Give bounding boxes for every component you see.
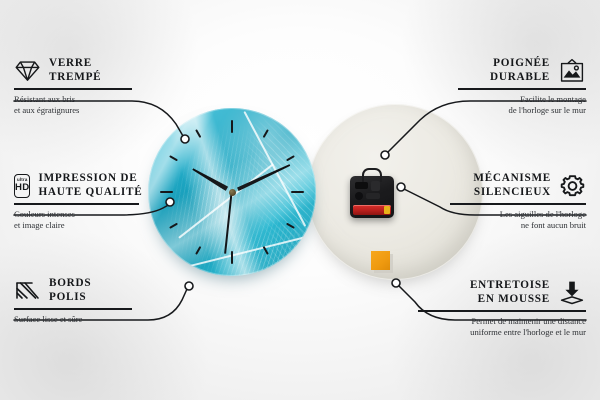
feature-title: BORDSPOLIS [49, 277, 91, 304]
feature-description: Facilite le montage de l'horloge sur le … [458, 94, 586, 116]
battery [353, 205, 391, 215]
ultra-hd-icon: ultra HD [14, 174, 30, 198]
gear-icon [559, 173, 586, 199]
feature-header: VERRETREMPÉ [14, 57, 132, 84]
polished-edges-icon [14, 279, 41, 303]
feature-description: Résistant aux bris et aux égratignures [14, 94, 132, 116]
feature-header: ENTRETOISEEN MOUSSE [418, 279, 586, 306]
feature-verre-trempe: VERRETREMPÉ Résistant aux bris et aux ég… [14, 57, 132, 116]
mechanism-detail [355, 192, 363, 200]
diamond-icon [14, 60, 41, 82]
feature-title: VERRETREMPÉ [49, 57, 101, 84]
feature-impression-haute-qualite: ultra HD IMPRESSION DEHAUTE QUALITÉ Coul… [14, 172, 139, 231]
mechanism-detail [355, 182, 368, 189]
feature-header: ultra HD IMPRESSION DEHAUTE QUALITÉ [14, 172, 139, 199]
feature-entretoise-en-mousse: ENTRETOISEEN MOUSSE Permet de maintenir … [418, 279, 586, 338]
picture-hanger-icon [558, 58, 586, 83]
feature-divider [418, 310, 586, 311]
foam-spacer [371, 251, 390, 270]
feature-divider [450, 203, 586, 204]
feature-divider [458, 88, 586, 89]
hanger-loop [362, 168, 382, 182]
feature-bords-polis: BORDSPOLIS Surface lisse et sûre [14, 277, 132, 325]
clock-face-rim [148, 108, 316, 276]
clock-mechanism [350, 176, 394, 218]
foam-spacer-icon [558, 280, 586, 306]
feature-title: ENTRETOISEEN MOUSSE [470, 279, 550, 306]
feature-divider [14, 308, 132, 309]
mechanism-detail [366, 193, 380, 199]
feature-description: Les aiguilles de l'horloge ne font aucun… [450, 209, 586, 231]
feature-header: MÉCANISMESILENCIEUX [450, 172, 586, 199]
feature-header: BORDSPOLIS [14, 277, 132, 304]
feature-description: Surface lisse et sûre [14, 314, 132, 325]
feature-title: POIGNÉEDURABLE [490, 57, 550, 84]
feature-title: IMPRESSION DEHAUTE QUALITÉ [38, 172, 142, 199]
feature-divider [14, 88, 132, 89]
mechanism-detail [371, 181, 380, 191]
feature-title: MÉCANISMESILENCIEUX [473, 172, 551, 199]
feature-poignee-durable: POIGNÉEDURABLE Facilite le montage de l'… [458, 57, 586, 116]
clock-face [148, 108, 316, 276]
feature-header: POIGNÉEDURABLE [458, 57, 586, 84]
battery-terminal [384, 206, 390, 214]
feature-mecanisme-silencieux: MÉCANISMESILENCIEUX Les aiguilles de l'h… [450, 172, 586, 231]
feature-divider [14, 203, 139, 204]
feature-description: Permet de maintenir une distance uniform… [418, 316, 586, 338]
feature-description: Couleurs intenses et image claire [14, 209, 139, 231]
infographic-canvas: VERRETREMPÉ Résistant aux bris et aux ég… [0, 0, 600, 400]
